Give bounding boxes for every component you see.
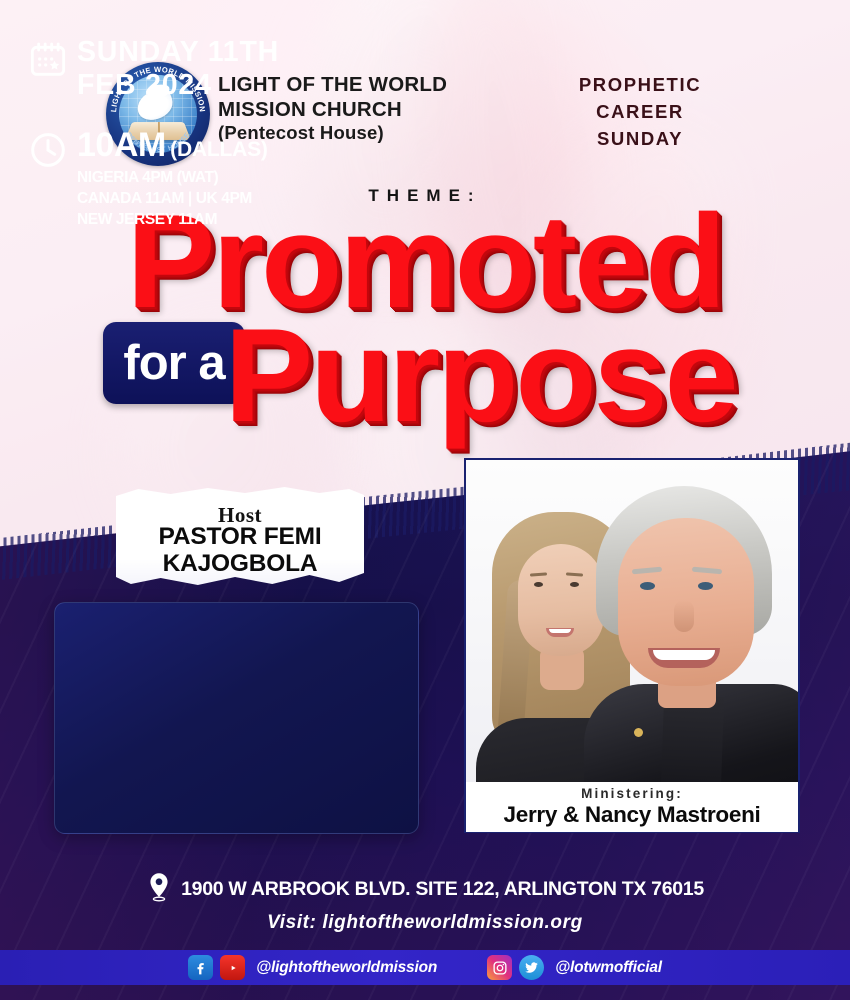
theme-title-line2: Purpose	[0, 310, 850, 443]
timezone-line2: CANADA 11AM | UK 4PM	[77, 189, 268, 210]
clock-icon	[25, 126, 71, 170]
social-bar: @lightoftheworldmission @lotwmofficial	[0, 950, 850, 985]
social-handle-1[interactable]: @lightoftheworldmission	[256, 959, 437, 977]
calendar-icon	[25, 36, 71, 80]
youtube-icon[interactable]	[220, 955, 245, 980]
social-handle-2[interactable]: @lotwmofficial	[555, 959, 662, 977]
event-time-main: 10AM	[77, 126, 166, 164]
address-row: 1900 W ARBROOK BLVD. SITE 122, ARLINGTON…	[0, 872, 850, 907]
event-date: SUNDAY 11TH FEB 2024	[77, 36, 279, 103]
host-name: PASTOR FEMI KAJOGBOLA	[112, 523, 368, 578]
address-text: 1900 W ARBROOK BLVD. SITE 122, ARLINGTON…	[181, 878, 704, 901]
event-time: 10AM (DALLAS) NIGERIA 4PM (WAT) CANADA 1…	[77, 126, 268, 230]
ministering-caption: Ministering: Jerry & Nancy Mastroeni	[466, 782, 798, 832]
event-flyer: LIGHT OF THE WORLD MISSION PENTECOST HOU…	[0, 0, 850, 1000]
facebook-icon[interactable]	[188, 955, 213, 980]
timezone-line1: NIGERIA 4PM (WAT)	[77, 168, 268, 189]
event-time-city: (DALLAS)	[170, 138, 268, 161]
event-series-line3: SUNDAY	[540, 126, 740, 153]
ministering-label: Ministering:	[581, 786, 683, 801]
time-row: 10AM (DALLAS) NIGERIA 4PM (WAT) CANADA 1…	[25, 126, 268, 230]
website-text: Visit: lightoftheworldmission.org	[0, 912, 850, 934]
date-row: SUNDAY 11TH FEB 2024	[25, 36, 279, 103]
social-group-instagram-twitter[interactable]: @lotwmofficial	[487, 955, 662, 980]
instagram-icon[interactable]	[487, 955, 512, 980]
event-series-label: PROPHETIC CAREER SUNDAY	[540, 72, 740, 152]
twitter-icon[interactable]	[519, 955, 544, 980]
ministering-name: Jerry & Nancy Mastroeni	[504, 802, 761, 828]
event-timezones: NIGERIA 4PM (WAT) CANADA 11AM | UK 4PM N…	[77, 168, 268, 230]
social-group-facebook-youtube[interactable]: @lightoftheworldmission	[188, 955, 437, 980]
guest-speakers-photo	[464, 458, 800, 833]
host-name-line1: PASTOR FEMI	[112, 523, 368, 550]
event-series-line2: CAREER	[540, 99, 740, 126]
event-series-line1: PROPHETIC	[540, 72, 740, 99]
event-date-line2: FEB 2024	[77, 69, 279, 102]
event-date-line1: SUNDAY 11TH	[77, 36, 279, 69]
location-pin-icon	[146, 872, 172, 907]
date-time-card	[54, 602, 419, 834]
host-name-line2: KAJOGBOLA	[112, 550, 368, 577]
timezone-line3: NEW JERSEY 11AM	[77, 210, 268, 231]
